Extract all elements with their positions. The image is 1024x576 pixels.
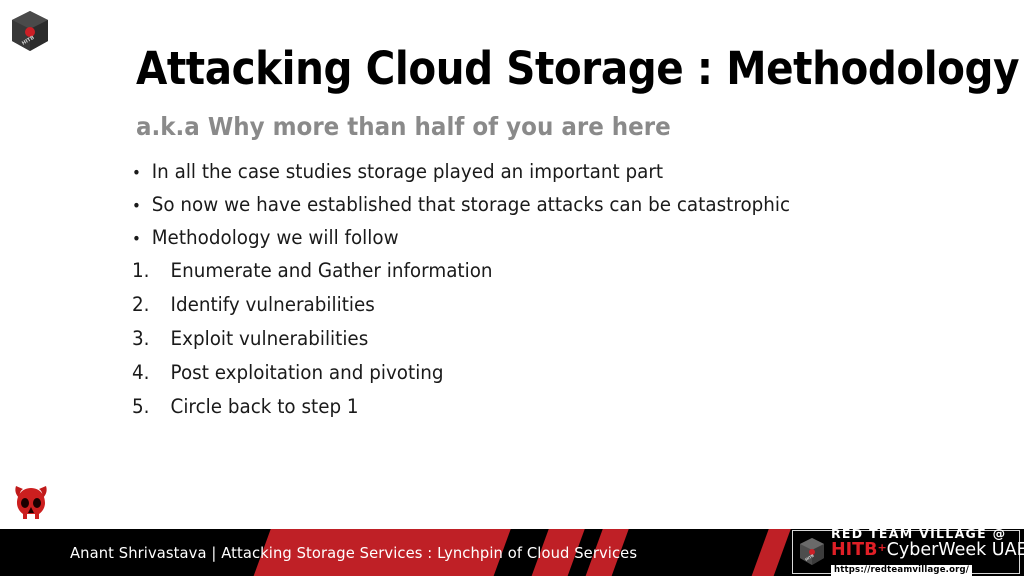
numbered-item-marker: 3. (132, 327, 171, 350)
footer-credit-text: Anant Shrivastava | Attacking Storage Se… (70, 529, 637, 576)
numbered-item-marker: 4. (132, 361, 171, 384)
event-logo-line2: HITB+CyberWeek UAE (831, 542, 1024, 560)
bullet-item: • So now we have established that storag… (132, 193, 884, 226)
slide-body: • In all the case studies storage played… (132, 160, 932, 429)
event-logo-superscript: + (877, 541, 886, 554)
bullet-item-label: Methodology we will follow (152, 226, 399, 249)
numbered-item: 1. Enumerate and Gather information (132, 259, 884, 293)
numbered-item: 3. Exploit vulnerabilities (132, 327, 884, 361)
numbered-item-label: Circle back to step 1 (171, 395, 359, 418)
numbered-item-label: Post exploitation and pivoting (171, 361, 444, 384)
bullet-item-label: In all the case studies storage played a… (152, 160, 663, 183)
numbered-item-label: Exploit vulnerabilities (171, 327, 369, 350)
slide-subtitle: a.k.a Why more than half of you are here (136, 112, 671, 141)
hitb-cube-small-icon: HITB (797, 536, 827, 568)
red-team-village-event-logo[interactable]: HITB RED TEAM VILLAGE @ HITB+CyberWeek U… (792, 530, 1020, 574)
bullet-item: • Methodology we will follow (132, 226, 884, 259)
red-team-village-skull-logo (9, 480, 53, 522)
numbered-item-label: Identify vulnerabilities (171, 293, 375, 316)
bullet-marker-icon: • (132, 231, 152, 247)
numbered-item-marker: 5. (132, 395, 171, 418)
numbered-item: 4. Post exploitation and pivoting (132, 361, 884, 395)
bullet-item-label: So now we have established that storage … (152, 193, 790, 216)
bullet-item: • In all the case studies storage played… (132, 160, 884, 193)
event-logo-brand: HITB (831, 540, 877, 560)
bullet-marker-icon: • (132, 198, 152, 214)
footer-stripe (745, 529, 796, 576)
hitb-cube-small-svg: HITB (797, 536, 827, 568)
slide-title: Attacking Cloud Storage : Methodology (136, 44, 1019, 94)
numbered-item-marker: 1. (132, 259, 171, 282)
numbered-item-label: Enumerate and Gather information (171, 259, 493, 282)
numbered-item-marker: 2. (132, 293, 171, 316)
presentation-slide: HITB Attacking Cloud Storage : Methodolo… (0, 0, 1024, 576)
numbered-item: 5. Circle back to step 1 (132, 395, 884, 429)
numbered-item: 2. Identify vulnerabilities (132, 293, 884, 327)
event-logo-url[interactable]: https://redteamvillage.org/ (831, 565, 972, 576)
event-logo-event: CyberWeek UAE (887, 540, 1024, 560)
hitb-cube-icon: HITB (8, 8, 52, 54)
bullet-marker-icon: • (132, 165, 152, 181)
hitb-cube-logo: HITB (8, 8, 52, 54)
horned-skull-icon (9, 480, 53, 522)
event-logo-text: RED TEAM VILLAGE @ HITB+CyberWeek UAE ht… (831, 528, 1024, 576)
